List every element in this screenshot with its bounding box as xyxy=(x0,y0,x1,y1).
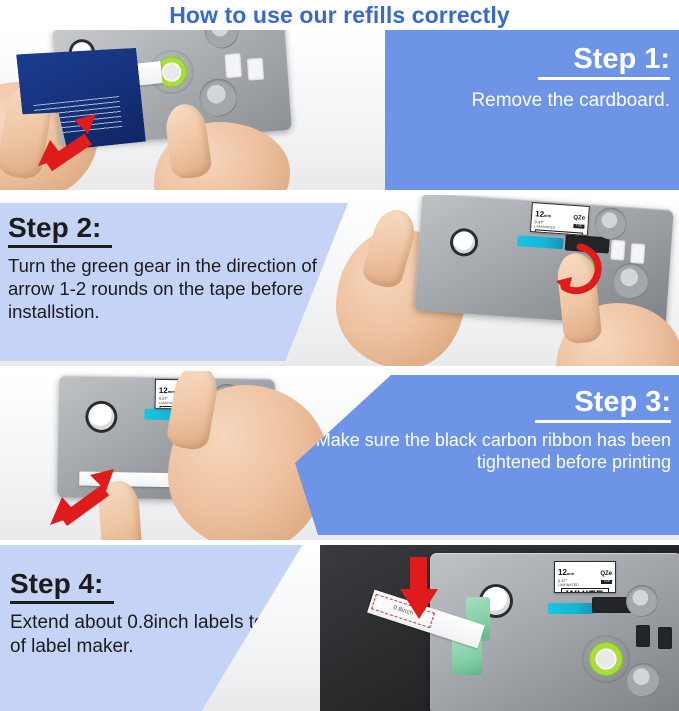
step-1-heading: Step 1: xyxy=(573,44,670,74)
cassette-hub-upper xyxy=(594,206,628,240)
spec-size-group: 12mm xyxy=(558,563,574,579)
cassette-slot-a xyxy=(636,625,650,647)
cassette-hub xyxy=(612,262,650,300)
step-1-panel: Step 1: Remove the cardboard. xyxy=(0,30,679,190)
step-2-heading: Step 2: xyxy=(8,213,101,242)
cassette-spec-label: 12mm QZe 0.47" TZE LAMINATED WHITE xyxy=(530,202,590,236)
step-4-underline xyxy=(10,601,114,604)
step-3-panel: 12mm QZe 0.47" TZE LAMINATED WHITE xyxy=(0,371,679,541)
cassette-slot-b xyxy=(630,243,645,264)
green-gear xyxy=(582,635,630,683)
step-1-underline xyxy=(538,77,670,80)
red-arrow-icon xyxy=(48,467,124,529)
cassette-slot-a xyxy=(610,240,625,261)
red-down-arrow-icon xyxy=(398,555,440,623)
step-2-panel: 12mm QZe 0.47" TZE LAMINATED WHITE xyxy=(0,195,679,367)
step-3-underline xyxy=(535,420,671,423)
spec-code: QZe xyxy=(600,571,612,577)
cassette-spec-label: 12mm QZe 0.47" TZE LAMINATED WHITE xyxy=(554,561,616,593)
step-3-heading: Step 3: xyxy=(574,387,671,417)
step-4-panel: 12mm QZe 0.47" TZE LAMINATED WHITE xyxy=(0,545,679,711)
cassette-slot-a xyxy=(224,53,242,78)
spec-size: 12 xyxy=(159,386,168,395)
step-4-heading: Step 4: xyxy=(10,569,103,598)
cassette-hub-upper xyxy=(204,30,240,50)
cassette-spool-white xyxy=(88,404,114,430)
red-arrow-icon xyxy=(36,112,108,172)
red-rotation-arrow-icon xyxy=(548,237,612,301)
cassette-slot-b xyxy=(658,627,672,649)
spec-size-group: 12mm xyxy=(159,381,175,397)
step-2-body: Turn the green gear in the direction of … xyxy=(8,255,348,323)
cassette-hub xyxy=(198,78,239,119)
infographic-page: How to use our refills correctly xyxy=(0,0,679,711)
spec-size-unit: mm xyxy=(544,213,551,218)
page-title: How to use our refills correctly xyxy=(169,2,510,29)
spec-size: 12 xyxy=(558,568,567,577)
cassette-slot-b xyxy=(247,58,264,81)
cassette-spool-white xyxy=(452,231,475,254)
spec-label-lam-row: LAMINATED xyxy=(556,584,614,587)
spec-label-top-row: 12mm QZe xyxy=(556,563,614,579)
cassette-hub-upper xyxy=(626,585,658,617)
spec-code: QZe xyxy=(573,215,585,222)
spec-color-name: WHITE xyxy=(561,588,608,593)
teal-strip xyxy=(548,603,594,614)
step-1-body: Remove the cardboard. xyxy=(471,89,670,112)
page-title-bar: How to use our refills correctly xyxy=(0,0,679,30)
step-3-body: Make sure the black carbon ribbon has be… xyxy=(295,430,671,473)
cassette-hub xyxy=(626,663,660,697)
spec-laminated: LAMINATED xyxy=(558,584,579,587)
step-1-text-block: Step 1: Remove the cardboard. xyxy=(385,30,679,190)
spec-size-unit: mm xyxy=(567,571,574,576)
step-2-underline xyxy=(8,245,112,248)
